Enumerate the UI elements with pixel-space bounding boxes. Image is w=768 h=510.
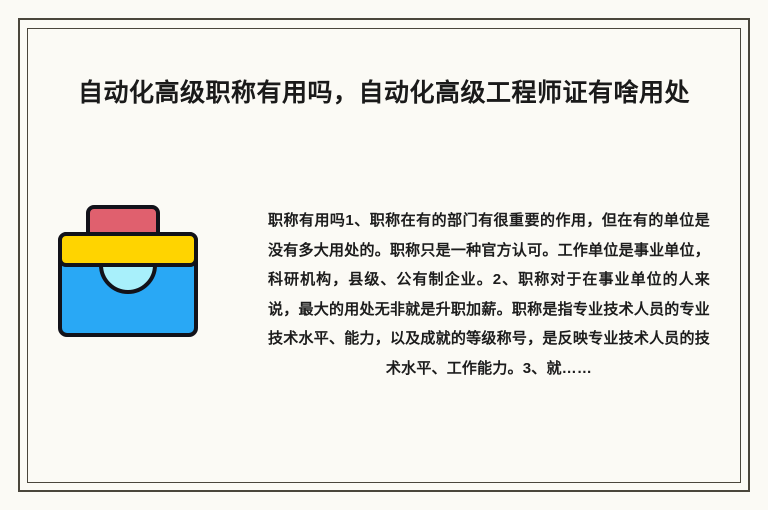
- toolbox-icon: [58, 204, 198, 338]
- poster-canvas: 自动化高级职称有用吗，自动化高级工程师证有啥用处 职称有用吗1、职称在有的部门有…: [0, 0, 768, 510]
- article-body-text: 职称有用吗1、职称在有的部门有很重要的作用，但在有的单位是没有多大用处的。职称只…: [268, 206, 710, 383]
- toolbox-briefcase-illustration: [58, 204, 198, 338]
- page-title: 自动化高级职称有用吗，自动化高级工程师证有啥用处: [34, 76, 734, 110]
- yellow-lid-band-icon: [60, 234, 196, 265]
